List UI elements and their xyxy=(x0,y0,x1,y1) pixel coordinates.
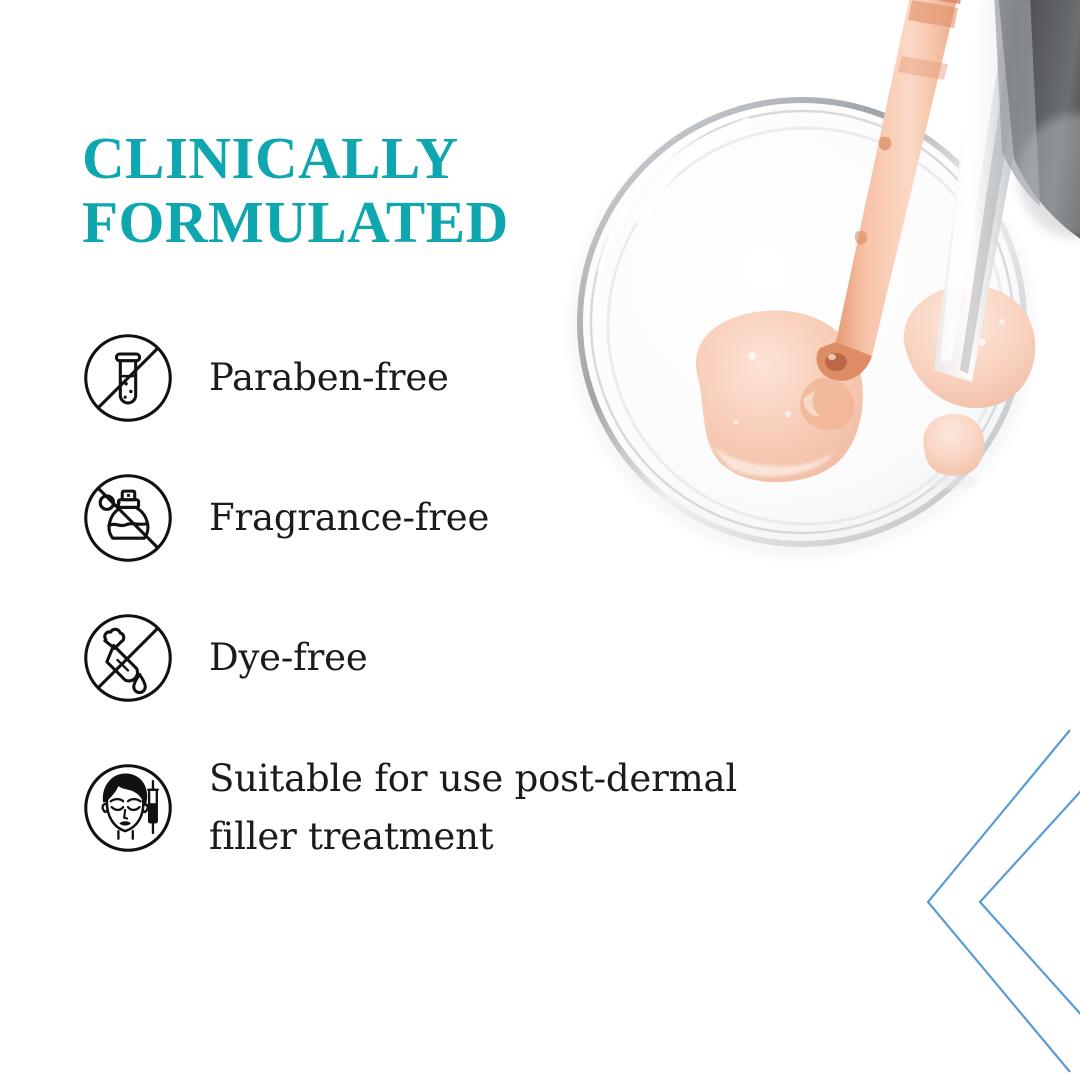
dish-glass-reflection xyxy=(640,122,748,220)
headline-line-1: CLINICALLY xyxy=(82,126,622,190)
puddle-small-shadow xyxy=(926,475,978,489)
bubble xyxy=(969,363,974,368)
benefit-item-fragrance-free: Fragrance-free xyxy=(80,470,840,566)
bubble xyxy=(999,319,1005,325)
face-with-syringe-icon xyxy=(80,760,176,856)
chevron-outer xyxy=(928,730,1070,1072)
headline-line-2: FORMULATED xyxy=(82,190,622,254)
chevron-inner xyxy=(980,748,1080,1058)
dish-highlight xyxy=(600,108,770,270)
no-test-tube-icon xyxy=(80,330,176,426)
serum-puddle-small xyxy=(923,414,984,476)
page-title: CLINICALLY FORMULATED xyxy=(82,126,622,254)
pipette-serum-column xyxy=(836,0,972,356)
benefits-list: Paraben-free Fragrance-free xyxy=(80,330,840,866)
decorative-chevrons xyxy=(820,720,1080,1080)
benefit-label-post-dermal-filler: Suitable for use post-dermal filler trea… xyxy=(209,750,737,866)
bubble xyxy=(955,323,965,333)
promo-canvas: CLINICALLY FORMULATED Paraben-free xyxy=(0,0,1080,1080)
benefit-item-paraben-free: Paraben-free xyxy=(80,330,840,426)
no-perfume-bottle-icon xyxy=(80,470,176,566)
bubble xyxy=(978,338,985,345)
benefit-item-dye-free: Dye-free xyxy=(80,610,840,706)
serum-puddle-right xyxy=(904,285,1035,408)
benefit-label-fragrance-free: Fragrance-free xyxy=(209,490,489,546)
pipette-glass xyxy=(934,0,1056,382)
no-dropper-icon xyxy=(80,610,176,706)
serum-bottle-cap xyxy=(990,0,1080,258)
bubble xyxy=(940,352,948,360)
benefit-item-post-dermal-filler: Suitable for use post-dermal filler trea… xyxy=(80,750,840,866)
benefit-label-paraben-free: Paraben-free xyxy=(209,350,449,406)
benefit-label-dye-free: Dye-free xyxy=(209,630,368,686)
double-chevron-left-icon xyxy=(820,720,1080,1080)
